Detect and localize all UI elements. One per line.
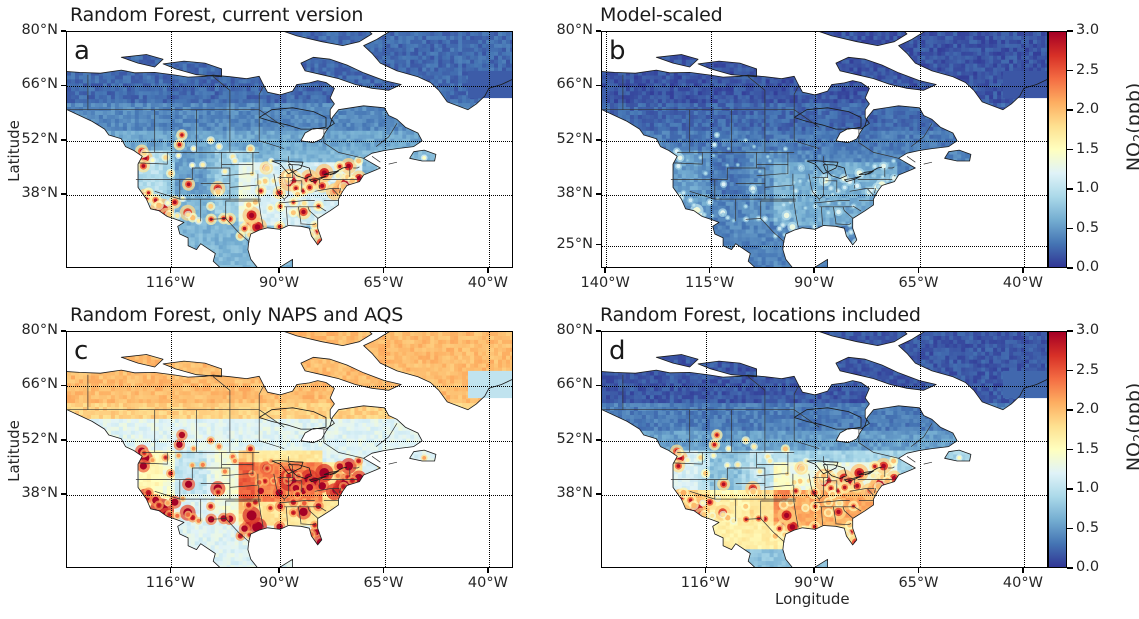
colorbar-tickmark (1067, 267, 1073, 269)
colorbar-tickmark (1067, 488, 1073, 490)
panel-c-letter: c (74, 338, 88, 364)
colorbar-top: NO2(ppb) 0.00.51.01.52.02.53.0 (0, 0, 1139, 300)
colorbar-bottom-gradient[interactable] (1048, 331, 1067, 568)
colorbar-tick-label: 2.5 (1076, 362, 1099, 378)
colorbar-tick-label: 1.5 (1076, 441, 1099, 457)
panel-d-letter: d (609, 338, 626, 364)
colorbar-tickmark (1067, 409, 1073, 411)
panel-b-letter: b (609, 38, 626, 64)
colorbar-tick-label: 0.0 (1076, 559, 1099, 575)
colorbar-tickmark (1067, 188, 1073, 190)
colorbar-title-unit: (ppb) (1123, 83, 1139, 134)
colorbar-tick-label: 1.0 (1076, 480, 1099, 496)
panel-a-letter: a (74, 38, 90, 64)
colorbar-title-main: NO (1123, 442, 1139, 471)
colorbar-tickmark (1067, 449, 1073, 451)
colorbar-tick-label: 0.0 (1076, 259, 1099, 275)
colorbar-tickmark (1067, 330, 1073, 332)
colorbar-bottom-title: NO2(ppb) (1123, 362, 1139, 492)
colorbar-tick-label: 0.5 (1076, 520, 1099, 536)
colorbar-bottom: NO2(ppb) 0.00.51.01.52.02.53.0 (0, 300, 1139, 619)
colorbar-tickmark (1067, 109, 1073, 111)
colorbar-top-title: NO2(ppb) (1123, 62, 1139, 192)
colorbar-tickmark (1067, 228, 1073, 230)
colorbar-top-gradient[interactable] (1048, 31, 1067, 268)
colorbar-tick-label: 1.0 (1076, 180, 1099, 196)
colorbar-title-main: NO (1123, 142, 1139, 171)
colorbar-tickmark (1067, 70, 1073, 72)
colorbar-tickmark (1067, 528, 1073, 530)
colorbar-tickmark (1067, 30, 1073, 32)
colorbar-tickmark (1067, 567, 1073, 569)
colorbar-title-unit: (ppb) (1123, 383, 1139, 434)
colorbar-tickmark (1067, 370, 1073, 372)
colorbar-tickmark (1067, 149, 1073, 151)
colorbar-title-sub: 2 (1132, 434, 1139, 442)
colorbar-tick-label: 3.0 (1076, 22, 1099, 38)
colorbar-tick-label: 3.0 (1076, 322, 1099, 338)
colorbar-tick-label: 1.5 (1076, 141, 1099, 157)
colorbar-title-sub: 2 (1132, 134, 1139, 142)
colorbar-tick-label: 2.5 (1076, 62, 1099, 78)
colorbar-tick-label: 2.0 (1076, 401, 1099, 417)
colorbar-tick-label: 2.0 (1076, 101, 1099, 117)
colorbar-tick-label: 0.5 (1076, 220, 1099, 236)
